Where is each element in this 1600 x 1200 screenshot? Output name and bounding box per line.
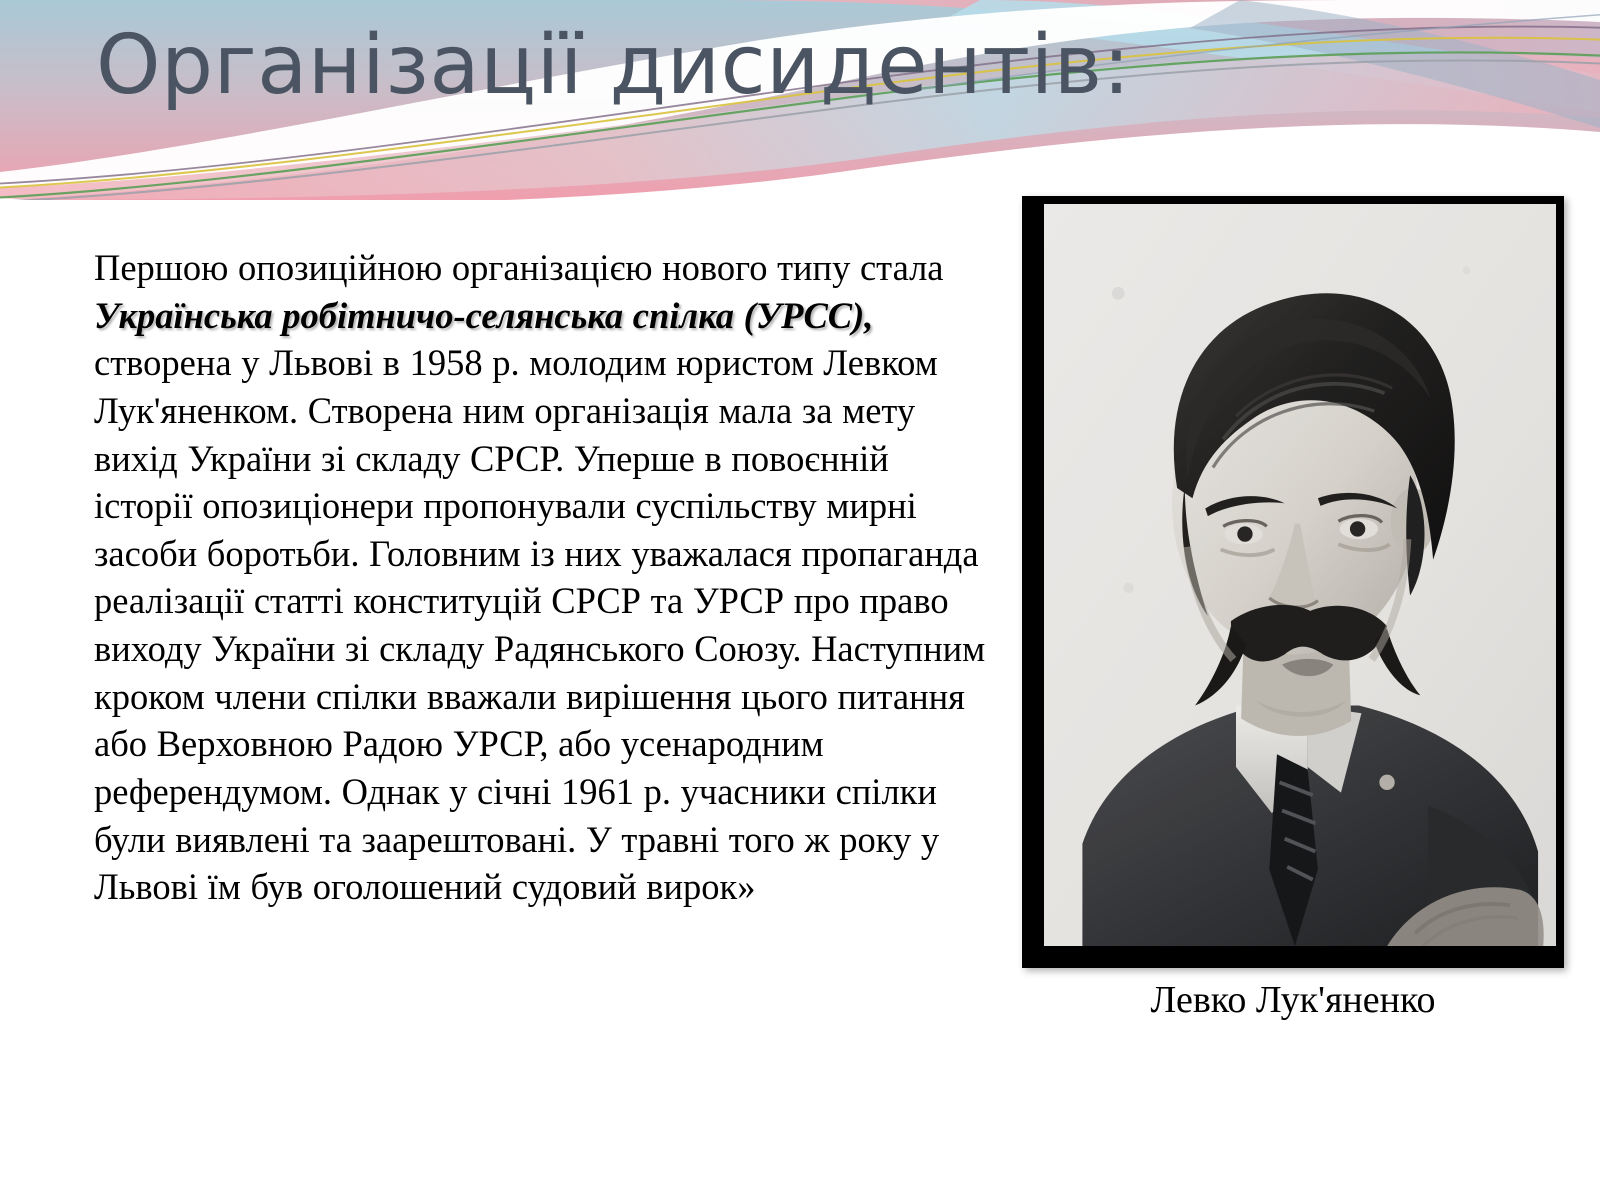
slide: Організації дисидентів: Першою опозиційн… xyxy=(0,0,1600,1200)
levko-lukianenko-portrait-graphic xyxy=(1044,204,1556,946)
portrait-image xyxy=(1044,204,1556,946)
page-title: Організації дисидентів: xyxy=(96,22,1496,111)
portrait-caption: Левко Лук'яненко xyxy=(1022,978,1564,1024)
body-text-after: створена у Львові в 1958 р. молодим юрис… xyxy=(94,342,985,907)
portrait-frame xyxy=(1022,196,1564,968)
body-text-emphasis: Українська робітничо-селянська спілка (У… xyxy=(94,295,873,336)
body-text-before: Першою опозиційною організацією нового т… xyxy=(94,247,944,288)
body-paragraph: Першою опозиційною організацією нового т… xyxy=(94,244,994,911)
